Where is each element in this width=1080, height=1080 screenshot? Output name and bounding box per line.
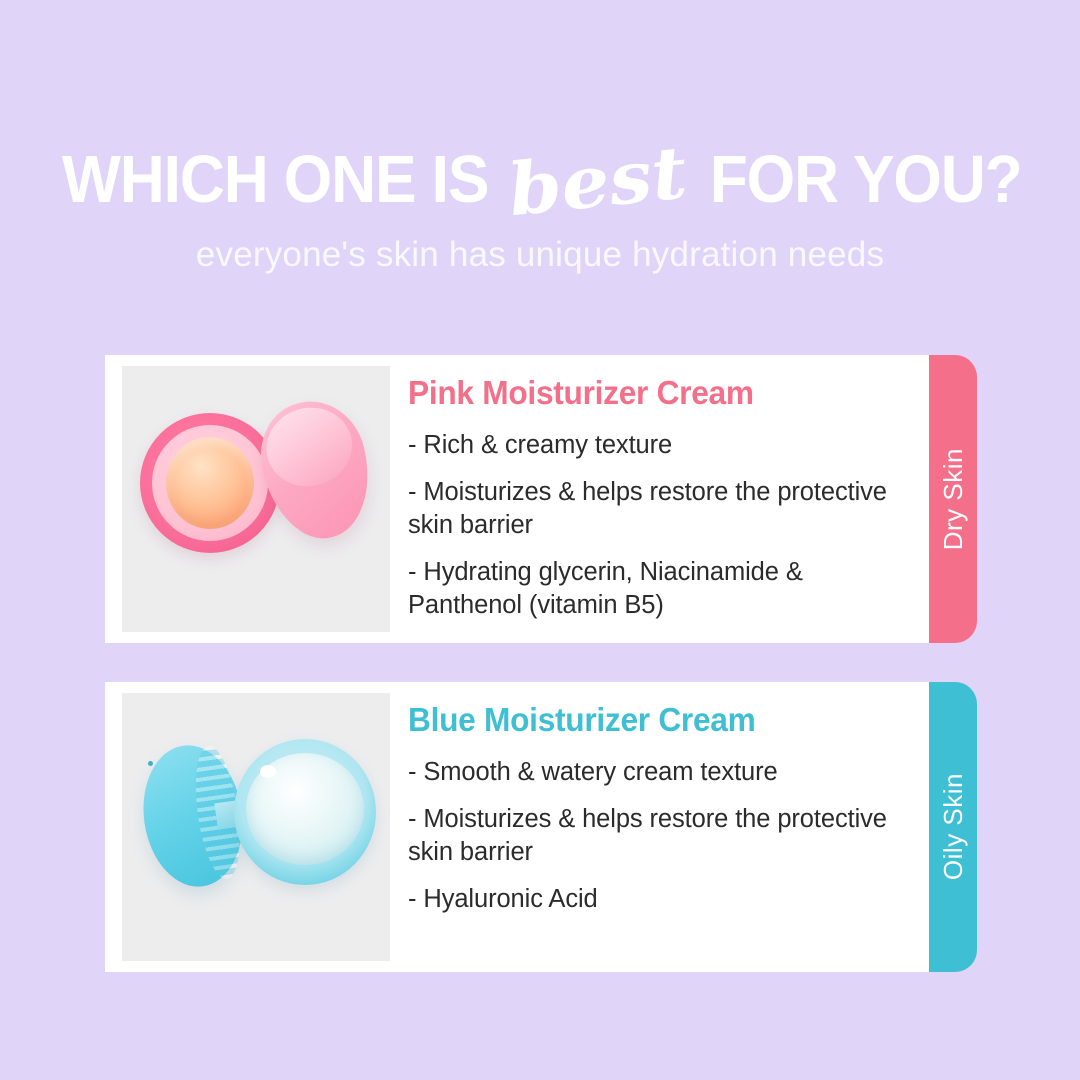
card-body-blue: Blue Moisturizer Cream - Smooth & watery… [390,682,929,916]
feature-bullet: - Smooth & watery cream texture [408,756,907,789]
card-body-pink: Pink Moisturizer Cream - Rich & creamy t… [390,355,929,622]
skin-type-tab-dry[interactable]: Dry Skin [929,355,977,643]
product-title-pink: Pink Moisturizer Cream [408,373,887,413]
product-title-blue: Blue Moisturizer Cream [408,700,887,740]
feature-bullet: - Hyaluronic Acid [408,883,907,916]
feature-bullet: - Moisturizes & helps restore the protec… [408,476,907,542]
feature-bullet: - Hydrating glycerin, Niacinamide & Pant… [408,556,907,622]
headline-text-after: FOR YOU? [710,137,1022,223]
skin-type-tab-oily[interactable]: Oily Skin [929,682,977,972]
pink-cream-surface-icon [166,437,254,529]
feature-bullet: - Rich & creamy texture [408,429,907,462]
blue-cream-surface-icon [246,753,364,865]
product-card-pink[interactable]: Pink Moisturizer Cream - Rich & creamy t… [105,355,929,643]
blue-jar-body-icon [234,739,376,885]
product-card-blue[interactable]: Blue Moisturizer Cream - Smooth & watery… [105,682,929,972]
page-title: WHICH ONE IS best FOR YOU? [0,134,1080,220]
pink-jar-rim-icon [152,425,268,541]
pink-jar-lid-icon [249,390,383,549]
header: WHICH ONE IS best FOR YOU? everyone's sk… [0,0,1080,276]
pink-jar-base-icon [140,413,280,553]
headline-text-before: WHICH ONE IS [62,137,488,223]
blue-moisturizer-jar-photo [122,693,390,961]
pink-moisturizer-jar-photo [122,366,390,632]
blue-jar-cap-dot-icon [148,761,153,766]
feature-bullet: - Moisturizes & helps restore the protec… [408,803,907,869]
page-subtitle: everyone's skin has unique hydration nee… [0,234,1080,276]
headline-script-word: best [491,128,703,235]
skin-type-tab-label: Oily Skin [938,773,969,880]
skin-type-tab-label: Dry Skin [938,448,969,550]
